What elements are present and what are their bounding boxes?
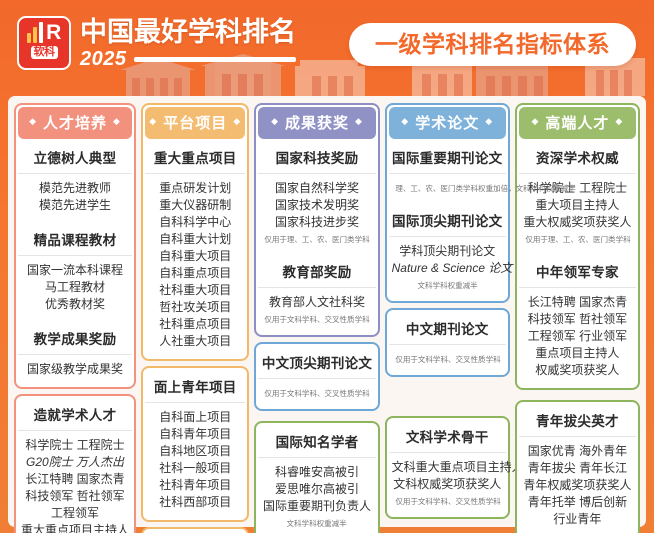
indicator-item: 文科权威奖项获奖人 [392,476,503,493]
indicator-item: 爱思唯尔高被引 [261,481,372,498]
category-label: 高端人才 [545,112,609,133]
indicator-card[interactable]: 立德树人典型模范先进教师模范先进学生 [18,141,132,221]
diamond-icon: ◆ [401,117,409,126]
indicator-card[interactable]: 教学成果奖励国家级教学成果奖 [18,322,132,385]
indicator-card[interactable]: 中文顶尖期刊论文仅用于文科学科、交叉性质学科 [258,346,375,407]
indicator-group: 科研平台文科学科权重减半 [141,527,249,533]
indicator-note: 仅用于文科学科、交叉性质学科 [395,496,500,507]
indicator-title: 中文顶尖期刊论文 [258,346,375,378]
indicator-group: 面上青年项目自科面上项目自科青年项目自科地区项目社科一般项目社科青年项目社科西部… [141,366,249,522]
indicator-body: 重点研发计划重大仪器研制自科科学中心自科重大计划自科重大项目自科重点项目社科重大… [145,173,245,357]
indicator-group: ◆高端人才◆资深学术权威科学院士 工程院士重大项目主持人重大权威奖项获奖人仅用于… [515,103,640,390]
indicator-title: 青年拔尖英才 [519,404,636,436]
indicator-group: 中文顶尖期刊论文仅用于文科学科、交叉性质学科 [254,342,379,411]
indicator-item: 重大权威奖项获奖人 [522,214,633,231]
indicator-item: 自科青年项目 [148,426,242,443]
indicator-item: 优秀教材奖 [21,296,129,313]
diamond-icon: ◆ [531,117,539,126]
indicator-note: 仅用于理、工、农、医门类学科 [265,234,370,245]
indicator-body: 理、工、农、医门类学科权重加倍，文科学科权重减半 [389,173,506,202]
indicator-item: 文科重大重点项目主持人 [392,459,503,476]
indicator-item: 社科青年项目 [148,477,242,494]
indicator-group: 中文期刊论文仅用于文科学科、交叉性质学科 [385,308,510,377]
logo-letter: R [46,23,61,43]
indicator-title: 中文期刊论文 [389,312,506,344]
indicator-group: ◆学术论文◆国际重要期刊论文理、工、农、医门类学科权重加倍，文科学科权重减半国际… [385,103,510,303]
indicator-card[interactable]: 资深学术权威科学院士 工程院士重大项目主持人重大权威奖项获奖人仅用于理、工、农、… [519,141,636,253]
indicator-item: 马工程教材 [21,279,129,296]
category-header-achievement-awards[interactable]: ◆成果获奖◆ [258,107,375,139]
indicator-item: 社科一般项目 [148,460,242,477]
indicator-item: 社科重大项目 [148,282,242,299]
indicator-title: 国际知名学者 [258,425,375,457]
brand-subline: 2025 [80,49,296,70]
indicator-item: 青年拔尖 青年长江 [522,460,633,477]
indicator-title: 立德树人典型 [18,141,132,173]
indicator-title: 国家科技奖励 [258,141,375,173]
indicator-item: 模范先进学生 [21,197,129,214]
indicator-title: 教学成果奖励 [18,322,132,354]
indicator-item: 模范先进教师 [21,180,129,197]
indicator-item: 行业青年 [522,511,633,528]
indicator-item: 重点研发计划 [148,180,242,197]
indicator-column-platform-projects: ◆平台项目◆重大重点项目重点研发计划重大仪器研制自科科学中心自科重大计划自科重大… [141,103,249,519]
indicator-item: 国家自然科学奖 [261,180,372,197]
indicator-card[interactable]: 国际知名学者科睿唯安高被引爱思唯尔高被引国际重要期刊负责人文科学科权重减半 [258,425,375,533]
category-label: 成果获奖 [285,112,349,133]
indicator-item: 国家级教学成果奖 [21,361,129,378]
indicator-note: 仅用于理、工、农、医门类学科 [525,234,630,245]
indicator-item: 教育部人文社科奖 [261,294,372,311]
bar-chart-icon [27,23,44,43]
brand-logo-wrap: R 软科 中国最好学科排名 2025 [17,16,296,70]
indicator-body: 自科面上项目自科青年项目自科地区项目社科一般项目社科青年项目社科西部项目 [145,402,245,518]
indicator-body: 仅用于文科学科、交叉性质学科 [258,378,375,407]
indicator-card[interactable]: 中文期刊论文仅用于文科学科、交叉性质学科 [389,312,506,373]
indicator-group-bottom: 青年拔尖英才国家优青 海外青年青年拔尖 青年长江青年权威奖项获奖人青年托举 博后… [515,400,640,533]
brand-title: 中国最好学科排名 [80,17,296,47]
indicator-title: 文科学术骨干 [389,420,506,452]
indicator-group: ◆人才培养◆立德树人典型模范先进教师模范先进学生精品课程教材国家一流本科课程马工… [14,103,136,389]
indicator-board: ◆人才培养◆立德树人典型模范先进教师模范先进学生精品课程教材国家一流本科课程马工… [8,96,646,527]
logo-mark: R [27,23,62,43]
indicator-body: 仅用于文科学科、交叉性质学科 [389,344,506,373]
indicator-item: 哲社攻关项目 [148,299,242,316]
indicator-column-top-talent: ◆高端人才◆资深学术权威科学院士 工程院士重大项目主持人重大权威奖项获奖人仅用于… [515,103,640,519]
brand-text-block: 中国最好学科排名 2025 [80,17,296,70]
indicator-title: 中年领军专家 [519,255,636,287]
indicator-item: 科技领军 哲社领军 [522,311,633,328]
indicator-card[interactable]: 文科学术骨干文科重大重点项目主持人文科权威奖项获奖人仅用于文科学科、交叉性质学科 [389,420,506,515]
indicator-item: 自科科学中心 [148,214,242,231]
indicator-body: 国家自然科学奖国家技术发明奖国家科技进步奖仅用于理、工、农、医门类学科 [258,173,375,253]
page-title-pill: 一级学科排名指标体系 [349,23,636,66]
indicator-item: 自科重大计划 [148,231,242,248]
indicator-title: 精品课程教材 [18,223,132,255]
indicator-body: 科学院士 工程院士G20院士 万人杰出长江特聘 国家杰青科技领军 哲社领军工程领… [18,430,132,533]
indicator-item: 人社重大项目 [148,333,242,350]
indicator-item: 工程领军 行业领军 [522,328,633,345]
column-spacer [385,382,510,411]
diamond-icon: ◆ [485,117,493,126]
diamond-icon: ◆ [271,117,279,126]
indicator-group: ◆平台项目◆重大重点项目重点研发计划重大仪器研制自科科学中心自科重大计划自科重大… [141,103,249,361]
indicator-group: ◆成果获奖◆国家科技奖励国家自然科学奖国家技术发明奖国家科技进步奖仅用于理、工、… [254,103,379,337]
indicator-title: 造就学术人才 [18,398,132,430]
indicator-column-talent-cultivation: ◆人才培养◆立德树人典型模范先进教师模范先进学生精品课程教材国家一流本科课程马工… [14,103,136,519]
indicator-title: 重大重点项目 [145,141,245,173]
indicator-card[interactable]: 国际重要期刊论文理、工、农、医门类学科权重加倍，文科学科权重减半 [389,141,506,202]
indicator-item: 青年托举 博后创新 [522,494,633,511]
indicator-body: 学科顶尖期刊论文Nature & Science 论文文科学科权重减半 [389,236,506,299]
logo-text: 软科 [31,46,58,59]
category-label: 平台项目 [163,112,227,133]
indicator-title: 国际顶尖期刊论文 [389,204,506,236]
indicator-note: 仅用于文科学科、交叉性质学科 [265,314,370,325]
indicator-card[interactable]: 青年拔尖英才国家优青 海外青年青年拔尖 青年长江青年权威奖项获奖人青年托举 博后… [519,404,636,533]
indicator-group: 造就学术人才科学院士 工程院士G20院士 万人杰出长江特聘 国家杰青科技领军 哲… [14,394,136,533]
indicator-item: 长江特聘 国家杰青 [522,294,633,311]
indicator-title: 教育部奖励 [258,255,375,287]
indicator-item: 自科重点项目 [148,265,242,282]
indicator-item: 自科重大项目 [148,248,242,265]
indicator-item: 工程领军 [21,505,129,522]
indicator-group-bottom: 国际知名学者科睿唯安高被引爱思唯尔高被引国际重要期刊负责人文科学科权重减半 [254,421,379,533]
diamond-icon: ◆ [355,117,363,126]
diamond-icon: ◆ [233,117,241,126]
indicator-note: 仅用于文科学科、交叉性质学科 [395,354,500,365]
indicator-item: 科技领军 哲社领军 [21,488,129,505]
indicator-card[interactable]: 重大重点项目重点研发计划重大仪器研制自科科学中心自科重大计划自科重大项目自科重点… [145,141,245,357]
indicator-item: 国家科技进步奖 [261,214,372,231]
indicator-body: 模范先进教师模范先进学生 [18,173,132,221]
indicator-note: 文科学科权重减半 [395,280,500,291]
indicator-item: 社科重点项目 [148,316,242,333]
brand-rule-divider [134,57,297,62]
indicator-body: 国家一流本科课程马工程教材优秀教材奖 [18,255,132,320]
indicator-title: 国际重要期刊论文 [389,141,506,173]
indicator-item: 自科面上项目 [148,409,242,426]
indicator-card[interactable]: 国家科技奖励国家自然科学奖国家技术发明奖国家科技进步奖仅用于理、工、农、医门类学… [258,141,375,253]
diamond-icon: ◆ [113,117,121,126]
indicator-group-bottom: 文科学术骨干文科重大重点项目主持人文科权威奖项获奖人仅用于文科学科、交叉性质学科 [385,416,510,519]
indicator-column-achievement-awards: ◆成果获奖◆国家科技奖励国家自然科学奖国家技术发明奖国家科技进步奖仅用于理、工、… [254,103,379,519]
category-label: 学术论文 [415,112,479,133]
indicator-card[interactable]: 面上青年项目自科面上项目自科青年项目自科地区项目社科一般项目社科青年项目社科西部… [145,370,245,518]
indicator-item: 科睿唯安高被引 [261,464,372,481]
diamond-icon: ◆ [615,117,623,126]
indicator-item: 重大重点项目主持人 [21,522,129,533]
indicator-note: 文科学科权重减半 [265,518,370,529]
indicator-body: 文科重大重点项目主持人文科权威奖项获奖人仅用于文科学科、交叉性质学科 [389,452,506,515]
page-header: R 软科 中国最好学科排名 2025 一级学科排名指标体系 [0,0,654,96]
indicator-card[interactable]: 教育部奖励教育部人文社科奖仅用于文科学科、交叉性质学科 [258,255,375,333]
category-header-platform-projects[interactable]: ◆平台项目◆ [145,107,245,139]
indicator-item: Nature & Science 论文 [392,260,503,277]
indicator-item: 重点项目主持人 [522,345,633,362]
indicator-item: G20院士 万人杰出 [21,454,129,471]
indicator-note: 仅用于文科学科、交叉性质学科 [265,388,370,399]
category-header-academic-papers[interactable]: ◆学术论文◆ [389,107,506,139]
indicator-item: 权威奖项获奖人 [522,362,633,379]
indicator-item: 国家技术发明奖 [261,197,372,214]
indicator-body: 国家级教学成果奖 [18,354,132,385]
indicator-title: 资深学术权威 [519,141,636,173]
indicator-card[interactable]: 精品课程教材国家一流本科课程马工程教材优秀教材奖 [18,223,132,320]
indicator-item: 科学院士 工程院士 [21,437,129,454]
indicator-note: 理、工、农、医门类学科权重加倍，文科学科权重减半 [395,183,500,194]
indicator-item: 国家优青 海外青年 [522,443,633,460]
indicator-item: 学科顶尖期刊论文 [392,243,503,260]
indicator-item: 国际重要期刊负责人 [261,498,372,515]
indicator-item: 青年权威奖项获奖人 [522,477,633,494]
category-header-talent-cultivation[interactable]: ◆人才培养◆ [18,107,132,139]
diamond-icon: ◆ [149,117,157,126]
indicator-body: 科睿唯安高被引爱思唯尔高被引国际重要期刊负责人文科学科权重减半 [258,457,375,533]
indicator-item: 社科西部项目 [148,494,242,511]
shanghairanking-logo: R 软科 [17,16,71,70]
indicator-item: 国家一流本科课程 [21,262,129,279]
diamond-icon: ◆ [29,117,37,126]
indicator-card[interactable]: 造就学术人才科学院士 工程院士G20院士 万人杰出长江特聘 国家杰青科技领军 哲… [18,398,132,533]
indicator-card[interactable]: 中年领军专家长江特聘 国家杰青科技领军 哲社领军工程领军 行业领军重点项目主持人… [519,255,636,386]
page-title: 一级学科排名指标体系 [375,31,610,57]
indicator-card[interactable]: 国际顶尖期刊论文学科顶尖期刊论文Nature & Science 论文文科学科权… [389,204,506,299]
indicator-item: 自科地区项目 [148,443,242,460]
indicator-column-academic-papers: ◆学术论文◆国际重要期刊论文理、工、农、医门类学科权重加倍，文科学科权重减半国际… [385,103,510,519]
indicator-item: 长江特聘 国家杰青 [21,471,129,488]
indicator-body: 教育部人文社科奖仅用于文科学科、交叉性质学科 [258,287,375,333]
category-label: 人才培养 [43,112,107,133]
indicator-item: 重大仪器研制 [148,197,242,214]
category-header-top-talent[interactable]: ◆高端人才◆ [519,107,636,139]
indicator-body: 长江特聘 国家杰青科技领军 哲社领军工程领军 行业领军重点项目主持人权威奖项获奖… [519,287,636,386]
indicator-item: 重大项目主持人 [522,197,633,214]
indicator-title: 面上青年项目 [145,370,245,402]
indicator-body: 国家优青 海外青年青年拔尖 青年长江青年权威奖项获奖人青年托举 博后创新行业青年 [519,436,636,533]
brand-year: 2025 [80,49,127,70]
